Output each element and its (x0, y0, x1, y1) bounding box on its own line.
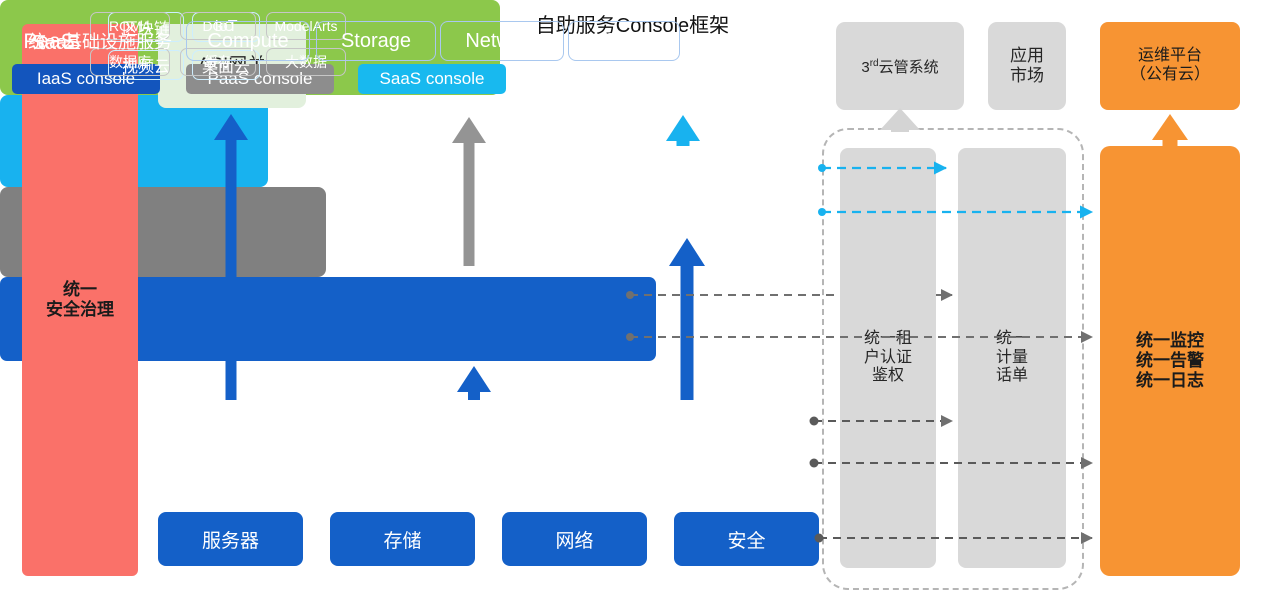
infra-tag-cce: CCE (568, 21, 680, 61)
unified-security-governance-panel: 统一 安全治理 (22, 24, 138, 576)
resource-box-storage: 存储 (330, 512, 475, 566)
ops-platform-body-label: 统一监控 统一告警 统一日志 (1136, 331, 1204, 391)
app-market-label: 应用 市场 (1010, 46, 1044, 86)
resource-box-server: 服务器 (158, 512, 303, 566)
unified-metering-billing-column: 统一 计量 话单 (958, 148, 1066, 568)
ops-platform-body-box: 统一监控 统一告警 统一日志 (1100, 146, 1240, 576)
ops-platform-header-label: 运维平台 （公有云） (1130, 47, 1210, 85)
resource-box-network: 网络 (502, 512, 647, 566)
arrow-saas-to-saas-console (666, 115, 700, 146)
third-party-cloud-management-box: 3rd云管系统 (836, 22, 964, 110)
app-market-box: 应用 市场 (988, 22, 1066, 110)
infra-tag-compute: Compute (186, 21, 310, 61)
arrow-infra-to-paas (457, 366, 491, 400)
infra-tag-storage: Storage (316, 21, 436, 61)
unified-security-governance-label: 统一 安全治理 (46, 280, 114, 320)
unified-infrastructure-label: 统一基础设施服务 (10, 28, 190, 54)
ops-platform-header-box: 运维平台 （公有云） (1100, 22, 1240, 110)
third-party-cloud-label: 3rd云管系统 (861, 56, 938, 77)
unified-metering-billing-label: 统一 计量 话单 (996, 330, 1028, 387)
architecture-diagram: 统一 安全治理 API网关 自助服务Console框架 IaaS console… (0, 0, 1265, 605)
arrow-paas-to-console (452, 117, 486, 266)
arrow-infra-to-saas (669, 238, 705, 400)
infra-tag-network: Network (440, 21, 564, 61)
unified-tenant-auth-label: 统一租 户认证 鉴权 (864, 330, 912, 387)
arrow-ops-body-to-header (1152, 114, 1188, 146)
dashed-paas-to-tenant-auth (626, 291, 836, 299)
saas-console-button[interactable]: SaaS console (358, 64, 506, 94)
unified-tenant-auth-column: 统一租 户认证 鉴权 (840, 148, 936, 568)
resource-box-security: 安全 (674, 512, 819, 566)
